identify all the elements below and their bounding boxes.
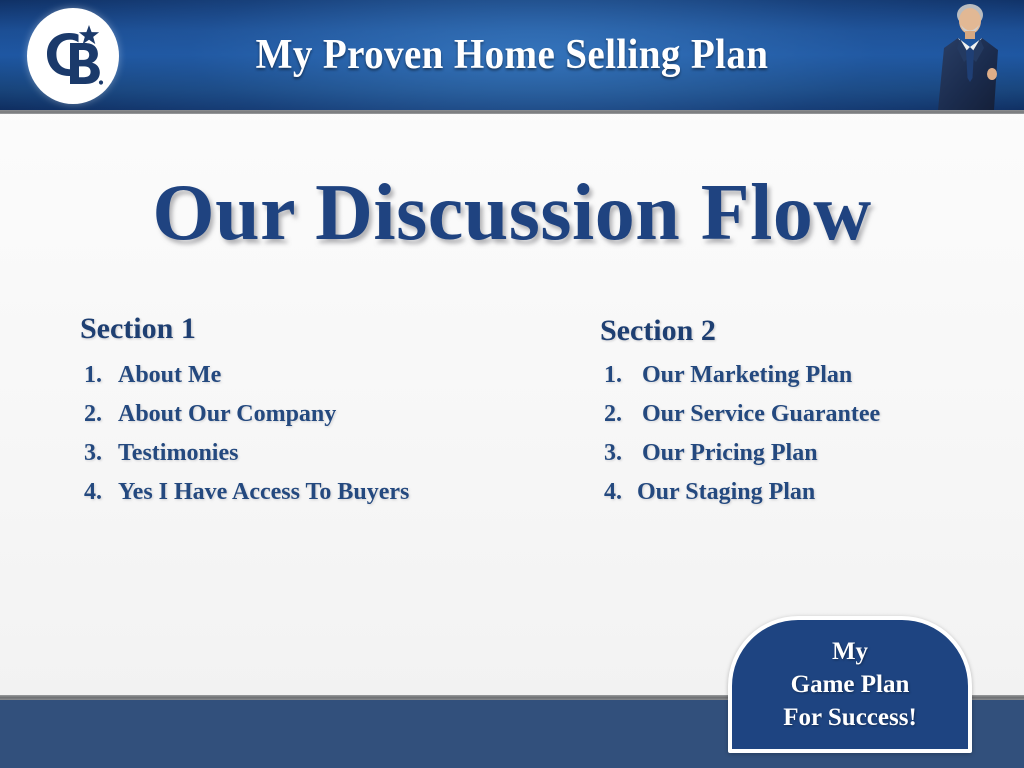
list-item-number: 3.: [84, 440, 118, 467]
slide: My Proven Home Selling Plan: [0, 0, 1024, 768]
section-1-list: 1. About Me 2. About Our Company 3. Test…: [80, 362, 600, 506]
list-item-label: Our Staging Plan: [637, 479, 815, 506]
section-1-heading: Section 1: [80, 312, 600, 346]
list-item[interactable]: 2. About Our Company: [80, 401, 600, 428]
list-item-number: 4.: [84, 479, 118, 506]
list-item[interactable]: 1. About Me: [80, 362, 600, 389]
page-title: Our Discussion Flow: [0, 168, 1024, 259]
section-2-column: Section 2 1. Our Marketing Plan 2. Our S…: [600, 314, 1020, 518]
list-item-number: 1.: [604, 362, 642, 389]
section-1-column: Section 1 1. About Me 2. About Our Compa…: [80, 312, 600, 518]
list-item-number: 2.: [84, 401, 118, 428]
header-title: My Proven Home Selling Plan: [36, 0, 988, 110]
list-item[interactable]: 4. Yes I Have Access To Buyers: [80, 479, 600, 506]
header-divider: [0, 110, 1024, 114]
list-item-number: 1.: [84, 362, 118, 389]
list-item[interactable]: 3. Our Pricing Plan: [600, 440, 1020, 467]
list-item-label: Testimonies: [118, 440, 238, 467]
badge-line-1: My: [832, 635, 868, 668]
coldwell-banker-cb-logo: [27, 8, 119, 104]
list-item-label: About Me: [118, 362, 221, 389]
list-item[interactable]: 3. Testimonies: [80, 440, 600, 467]
header-band: My Proven Home Selling Plan: [0, 0, 1024, 110]
list-item[interactable]: 2. Our Service Guarantee: [600, 401, 1020, 428]
list-item-label: Our Pricing Plan: [642, 440, 818, 467]
game-plan-badge: My Game Plan For Success!: [728, 616, 972, 753]
list-item-label: Our Marketing Plan: [642, 362, 852, 389]
list-item-number: 3.: [604, 440, 642, 467]
list-item-label: About Our Company: [118, 401, 336, 428]
list-item[interactable]: 1. Our Marketing Plan: [600, 362, 1020, 389]
list-item-label: Our Service Guarantee: [642, 401, 880, 428]
list-item[interactable]: 4. Our Staging Plan: [600, 479, 1020, 506]
list-item-label: Yes I Have Access To Buyers: [118, 479, 409, 506]
agent-photo: [914, 0, 1010, 110]
badge-line-2: Game Plan: [791, 668, 910, 701]
section-2-list: 1. Our Marketing Plan 2. Our Service Gua…: [600, 362, 1020, 506]
section-2-heading: Section 2: [600, 314, 1020, 348]
list-item-number: 2.: [604, 401, 642, 428]
badge-line-3: For Success!: [783, 701, 917, 734]
list-item-number: 4.: [604, 479, 637, 506]
